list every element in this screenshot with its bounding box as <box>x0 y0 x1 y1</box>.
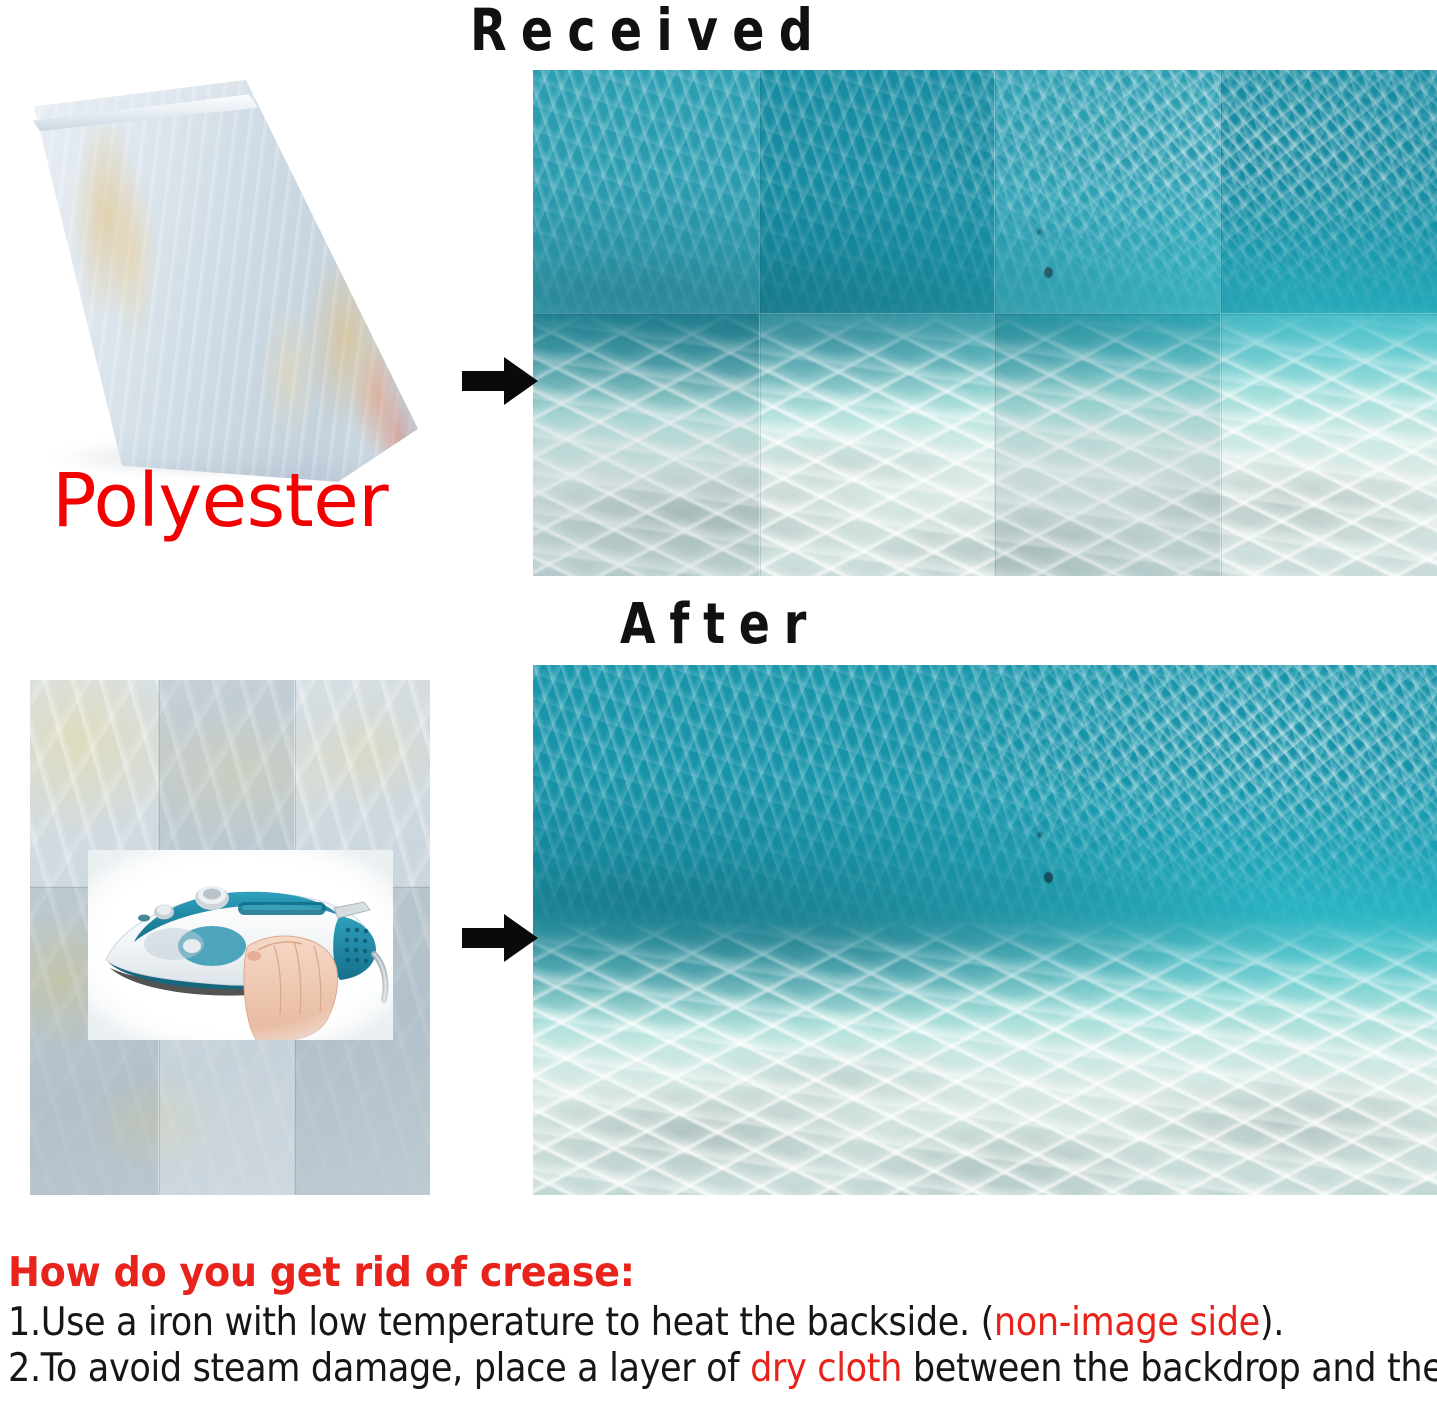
sea-speck-icon <box>1044 267 1053 278</box>
instructions-block: How do you get rid of crease: 1.Use a ir… <box>8 1248 1433 1391</box>
instructions-line-1-highlight: non-image side <box>994 1300 1260 1345</box>
instructions-line-2-suffix: between the backdrop and the iron. <box>902 1346 1437 1391</box>
sea-caustics-layer-after <box>533 665 1437 1195</box>
received-backdrop-photo <box>533 70 1437 576</box>
instructions-line-1: 1.Use a iron with low temperature to hea… <box>8 1300 1291 1346</box>
received-heading: Received <box>470 0 827 64</box>
polyester-label: Polyester <box>52 458 388 544</box>
instructions-line-2-prefix: 2.To avoid steam damage, place a layer o… <box>8 1346 750 1391</box>
instructions-title: How do you get rid of crease: <box>8 1248 1333 1296</box>
after-backdrop-photo <box>533 665 1437 1195</box>
instructions-line-2-highlight: dry cloth <box>750 1346 902 1391</box>
sea-caustics-layer <box>533 70 1437 576</box>
polyester-fabric-swatch <box>18 78 418 486</box>
sea-speck-icon-after <box>1044 872 1053 883</box>
after-heading: After <box>620 592 820 657</box>
instructions-line-2: 2.To avoid steam damage, place a layer o… <box>8 1346 1291 1392</box>
instructions-line-1-suffix: ). <box>1260 1300 1284 1345</box>
arrow-right-icon-after <box>462 912 538 964</box>
steam-iron-illustration <box>88 850 393 1040</box>
swatch-sheet <box>18 78 418 486</box>
instructions-line-1-prefix: 1.Use a iron with low temperature to hea… <box>8 1300 994 1345</box>
arrow-right-icon <box>462 355 538 407</box>
